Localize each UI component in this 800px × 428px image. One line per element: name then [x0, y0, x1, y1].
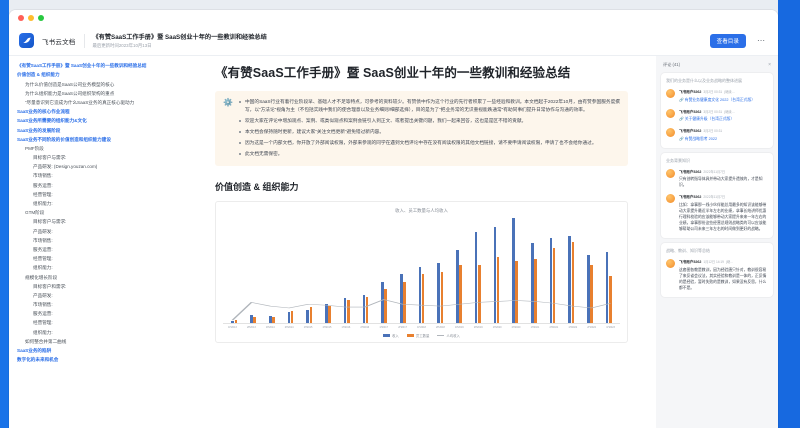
comment-header: 飞书用户52623月2日 00:31(继续… — [679, 109, 768, 115]
section-heading: 价值创造 & 组织能力 — [215, 180, 628, 193]
chart-bar-group — [225, 218, 244, 323]
toc-item[interactable]: 服务运营: — [15, 181, 183, 190]
comment-section-title: 战略、教训、知识等总结 — [666, 248, 768, 254]
comment-section: 业务背景知识飞书用户52622022年11月7日只有创转指导体具并带动大家提升遗… — [661, 153, 773, 238]
chart-bar-group — [356, 218, 375, 323]
comment-timestamp: 1月12日 14:19 — [703, 259, 724, 264]
chart-x-tick: 2H2019 — [469, 326, 488, 329]
comment-doc-link[interactable]: 🔗 关于健康升级（台湾正式版） — [679, 116, 768, 122]
legend-label: 收入 — [392, 333, 399, 338]
chart-x-tick: 2H2015 — [318, 326, 337, 329]
chart-x-tick: 1H2022 — [563, 326, 582, 329]
chart-x-tick: 1H2016 — [336, 326, 355, 329]
comment-item[interactable]: 飞书用户52623月2日 00:31(继续…🔗 关于健康升级（台湾正式版） — [666, 109, 768, 123]
chart-x-tick: 2H2016 — [355, 326, 374, 329]
chart-bar — [347, 300, 350, 323]
chart-x-tick: 2H2013 — [242, 326, 261, 329]
page-title: 《有赞SaaS工作手册》暨 SaaS创业十年的一些教训和经验总结 — [215, 64, 628, 82]
chart-x-tick: 2H2021 — [544, 326, 563, 329]
toc-item[interactable]: 产品研发: (Design.youzan.com) — [15, 163, 183, 172]
comment-body: 飞书用户52622022年11月7日比如：拿事那一线小伙伴能总用最多的知识该能够… — [679, 194, 768, 232]
share-button[interactable]: 查看目录 — [710, 34, 746, 48]
comment-item[interactable]: 飞书用户52622022年11月7日只有创转指导体具并带动大家提升遗效的，才是知… — [666, 169, 768, 189]
app-screen: 飞书云文档 《有赞SaaS工作手册》暨 SaaS创业十年的一些教训和经验总结 最… — [0, 0, 800, 428]
chart-x-axis: 1H20132H20131H20142H20141H20152H20151H20… — [223, 323, 620, 329]
minimize-window-button[interactable] — [28, 15, 34, 21]
comment-section-title: 我们的业务是什么以及业务战略的整体进展 — [666, 78, 768, 84]
comment-header: 飞书用户52622022年11月7日 — [679, 169, 768, 175]
legend-swatch — [437, 335, 444, 336]
chart-bar-group — [450, 218, 469, 323]
comment-section-title: 业务背景知识 — [666, 158, 768, 164]
feishu-logo-icon — [19, 33, 34, 48]
document-subtitle: 最后更新时间2023年10月13日 — [93, 43, 267, 49]
comment-timestamp: 2022年11月7日 — [703, 194, 725, 199]
toc-item[interactable]: “尽量意识到它造成为什么SaaS业务的真正核心驱动力 — [15, 99, 183, 108]
comment-author: 飞书用户5262 — [679, 195, 701, 200]
toc-item[interactable]: 规模化增长阶段 — [15, 273, 183, 282]
chart-bar-group — [543, 218, 562, 323]
close-window-button[interactable] — [18, 15, 24, 21]
toc-item[interactable]: 如何整合并第二曲线 — [15, 338, 183, 347]
comment-body: 飞书用户52623月2日 00:31(继续…🔗 关于健康升级（台湾正式版） — [679, 109, 768, 123]
chart-bar-group — [599, 218, 618, 323]
window-titlebar — [9, 10, 778, 26]
brand-name: 飞书云文档 — [42, 36, 76, 46]
comment-text: 只有创转指导体具并带动大家提升遗效的，才是知识。 — [679, 176, 768, 188]
app-body: 《有赞SaaS工作手册》暨 SaaS创业十年的一些教训和经验总结价值创造 & 组… — [9, 56, 778, 428]
right-rail — [778, 0, 800, 428]
toc-item[interactable]: 为什么组织能力是SaaS公司组织架构的重点 — [15, 90, 183, 99]
chart-bar-group — [262, 218, 281, 323]
comment-text: 这套图各教是教训，因为经验唐只针对，教训很容易了来反省会议法，其实经验和教训是一… — [679, 267, 768, 291]
comment-timestamp: 3月2日 00:31 — [703, 109, 722, 114]
avatar — [666, 109, 675, 118]
chart-bar — [534, 259, 537, 323]
comment-meta-extra: (继… — [726, 259, 733, 264]
toc-item[interactable]: PMF阶段 — [15, 145, 183, 154]
chart-bar — [553, 248, 556, 323]
comment-header: 飞书用户52623月2日 00:31 — [679, 128, 768, 134]
chart-bar — [253, 317, 256, 323]
toc-item[interactable]: 组织能力: — [15, 200, 183, 209]
toc-item[interactable]: SaaS业务的核心作业流程 — [15, 108, 183, 117]
chart-legend-item[interactable]: 收入 — [383, 333, 399, 338]
chart-bar-group — [244, 218, 263, 323]
comment-author: 飞书用户5262 — [679, 129, 701, 134]
table-of-contents[interactable]: 《有赞SaaS工作手册》暨 SaaS创业十年的一些教训和经验总结价值创造 & 组… — [9, 56, 187, 428]
chart-bar — [441, 272, 444, 323]
chart-bar — [235, 320, 238, 323]
chart-title: 收入、员工数量与人均收入 — [223, 208, 620, 214]
callout-bullet: 本文档会保持随时更新，建议大家“关注文档更新”避免错过新内容。 — [238, 128, 620, 136]
avatar — [666, 89, 675, 98]
comment-body: 飞书用户52622022年11月7日只有创转指导体具并带动大家提升遗效的，才是知… — [679, 169, 768, 189]
comment-sections: 我们的业务是什么以及业务战略的整体进展飞书用户52623月2日 00:31(继续… — [661, 73, 773, 297]
chart-bar — [328, 306, 331, 323]
callout-bullet: 欢迎大家在评论中增加观点、案例、或类似观点和案例会链引入到正文、或者提出关键问题… — [238, 117, 620, 125]
chart-bar — [572, 242, 575, 323]
chart-bar-group — [468, 218, 487, 323]
chart-legend-item[interactable]: 人均收入 — [437, 333, 460, 338]
chart-x-tick: 2H2020 — [507, 326, 526, 329]
chart-bar — [366, 297, 369, 323]
comment-item[interactable]: 飞书用户52622022年11月7日比如：拿事那一线小伙伴能总用最多的知识该能够… — [666, 194, 768, 232]
chart-legend-item[interactable]: 员工数量 — [407, 333, 430, 338]
chart-x-tick: 1H2014 — [261, 326, 280, 329]
gear-icon: ⚙️ — [223, 98, 233, 158]
toc-item[interactable]: 服务运营: — [15, 310, 183, 319]
chart-x-tick: 1H2013 — [223, 326, 242, 329]
comment-text: 比如：拿事那一线小伙伴能总用最多的知识该能够带动大家提升最近半年左右的业绩，拿事… — [679, 202, 768, 232]
legend-swatch — [383, 334, 390, 337]
callout-bullet: 中国的SaaS行业有着行业阶段早、基础人才不足等特点，可参考的资料较少。有赞债中… — [238, 98, 620, 113]
legend-swatch — [407, 334, 414, 337]
avatar — [666, 169, 675, 178]
comment-body: 飞书用户52621月12日 14:19(继…这套图各教是教训，因为经验唐只针对，… — [679, 259, 768, 291]
chart-bar — [515, 261, 518, 323]
comment-author: 飞书用户5262 — [679, 90, 701, 95]
chart-x-tick: 1H2017 — [374, 326, 393, 329]
toc-item[interactable]: 市场销售: — [15, 301, 183, 310]
chart-card: 收入、员工数量与人均收入 1H20132H20131H20142H20141H2… — [215, 201, 628, 343]
chart-x-tick: 2H2018 — [431, 326, 450, 329]
browser-window: 飞书云文档 《有赞SaaS工作手册》暨 SaaS创业十年的一些教训和经验总结 最… — [9, 10, 778, 428]
chart-x-tick: 1H2020 — [488, 326, 507, 329]
comment-header: 飞书用户52621月12日 14:19(继… — [679, 259, 768, 265]
chart-bar-group — [319, 218, 338, 323]
chart-bar-group — [431, 218, 450, 323]
chart-bar-group — [412, 218, 431, 323]
toc-item[interactable]: SaaS业务的发展阶段 — [15, 126, 183, 135]
chart-bar-group — [281, 218, 300, 323]
toc-item[interactable]: 产品研发: — [15, 227, 183, 236]
chart-x-tick: 2H2022 — [582, 326, 601, 329]
chart-bar-group — [506, 218, 525, 323]
chart-legend: 收入员工数量人均收入 — [223, 333, 620, 338]
toc-item[interactable]: 《有赞SaaS工作手册》暨 SaaS创业十年的一些教训和经验总结 — [15, 62, 183, 71]
chart-bar — [459, 265, 462, 323]
toc-item[interactable]: 为什么价值创造是SaaS公司业务模型的核心 — [15, 80, 183, 89]
toc-item[interactable]: SaaS业务所需要的组织能力&文化 — [15, 117, 183, 126]
toc-item[interactable]: 经营管理: — [15, 191, 183, 200]
comment-item[interactable]: 飞书用户52623月2日 00:31🔗 有赞战略思考 2022 — [666, 128, 768, 142]
toc-item[interactable]: GTM阶段 — [15, 209, 183, 218]
chart-bar-group — [300, 218, 319, 323]
legend-label: 人均收入 — [446, 333, 460, 338]
chart-x-tick: 1H2018 — [412, 326, 431, 329]
chart-bar-group — [375, 218, 394, 323]
comment-section: 我们的业务是什么以及业务战略的整体进展飞书用户52623月2日 00:31(继续… — [661, 73, 773, 148]
comments-count-label: 评论 (41) — [663, 62, 680, 68]
chart-x-tick: 2H2014 — [280, 326, 299, 329]
comment-section: 战略、教训、知识等总结飞书用户52621月12日 14:19(继…这套图各教是教… — [661, 243, 773, 297]
toc-item[interactable]: SaaS业务的陷阱 — [15, 347, 183, 356]
comment-timestamp: 2022年11月7日 — [703, 169, 725, 174]
close-icon[interactable]: × — [768, 62, 771, 68]
maximize-window-button[interactable] — [38, 15, 44, 21]
legend-label: 员工数量 — [416, 333, 430, 338]
chart-bar — [403, 282, 406, 323]
toc-item[interactable]: 组织能力: — [15, 328, 183, 337]
toc-item[interactable]: 经营管理: — [15, 255, 183, 264]
comment-timestamp: 3月2日 00:31 — [703, 89, 722, 94]
toc-item[interactable]: 经营管理: — [15, 319, 183, 328]
chart-bar — [291, 311, 294, 323]
chart-x-tick: 1H2023 — [601, 326, 620, 329]
toc-item[interactable]: 目标客户与需求: — [15, 218, 183, 227]
comment-author: 飞书用户5262 — [679, 110, 701, 115]
comment-meta-extra: (继续… — [724, 89, 735, 94]
comment-author: 飞书用户5262 — [679, 260, 701, 265]
comment-body: 飞书用户52623月2日 00:31(继续…🔗 有赞业务健康度文化 2022（台… — [679, 89, 768, 103]
callout-bullets: 中国的SaaS行业有着行业阶段早、基础人才不足等特点，可参考的资料较少。有赞债中… — [238, 98, 620, 158]
comment-doc-link[interactable]: 🔗 有赞战略思考 2022 — [679, 136, 768, 142]
comment-item[interactable]: 飞书用户52621月12日 14:19(继…这套图各教是教训，因为经验唐只针对，… — [666, 259, 768, 291]
chart-bar-group — [393, 218, 412, 323]
toc-item[interactable]: 市场销售: — [15, 237, 183, 246]
chart-bar — [497, 257, 500, 323]
chart-bar-group — [562, 218, 581, 323]
chart-bar — [422, 274, 425, 323]
toc-item[interactable]: 目标客户与需求: — [15, 154, 183, 163]
comments-panel[interactable]: 评论 (41) × 我们的业务是什么以及业务战略的整体进展飞书用户52623月2… — [656, 56, 778, 428]
toc-item[interactable]: 数字化的未来和机会 — [15, 356, 183, 365]
chart-bar-group — [487, 218, 506, 323]
avatar — [666, 128, 675, 137]
chart-bar — [310, 307, 313, 323]
chart-x-tick: 1H2015 — [299, 326, 318, 329]
toc-item[interactable]: 价值创造 & 组织能力 — [15, 71, 183, 80]
comment-header: 飞书用户52622022年11月7日 — [679, 194, 768, 200]
app-header: 飞书云文档 《有赞SaaS工作手册》暨 SaaS创业十年的一些教训和经验总结 最… — [9, 26, 778, 56]
chart-x-tick: 1H2021 — [526, 326, 545, 329]
avatar — [666, 194, 675, 203]
comment-body: 飞书用户52623月2日 00:31🔗 有赞战略思考 2022 — [679, 128, 768, 142]
toc-item[interactable]: 产品研发: — [15, 292, 183, 301]
left-rail — [0, 0, 9, 428]
chart-bar-group — [525, 218, 544, 323]
chart-plot-area — [223, 218, 620, 323]
comment-author: 飞书用户5262 — [679, 170, 701, 175]
comments-panel-header: 评论 (41) × — [661, 62, 773, 73]
chart-bar — [272, 317, 275, 323]
toc-item[interactable]: SaaS业务不同阶段的价值创造和组织能力建设 — [15, 136, 183, 145]
avatar — [666, 259, 675, 268]
chart-bar-group — [337, 218, 356, 323]
chart-x-tick: 2H2017 — [393, 326, 412, 329]
document-content: 《有赞SaaS工作手册》暨 SaaS创业十年的一些教训和经验总结 ⚙️ 中国的S… — [187, 56, 656, 428]
document-title: 《有赞SaaS工作手册》暨 SaaS创业十年的一些教训和经验总结 — [93, 32, 267, 41]
chart-bar — [590, 265, 593, 323]
chart-x-tick: 1H2019 — [450, 326, 469, 329]
header-divider — [84, 34, 85, 48]
comment-header: 飞书用户52623月2日 00:31(继续… — [679, 89, 768, 95]
callout-bullet: 因为这是一个内部文档，你开放了外部阅读权限，外部来参观的同学在遇到文档评论中存在… — [238, 139, 620, 147]
callout-box: ⚙️ 中国的SaaS行业有着行业阶段早、基础人才不足等特点，可参考的资料较少。有… — [215, 91, 628, 166]
comment-meta-extra: (继续… — [724, 109, 735, 114]
comment-doc-link[interactable]: 🔗 有赞业务健康度文化 2022（台湾正式版） — [679, 97, 768, 103]
chart-bar — [609, 276, 612, 323]
more-options-icon[interactable]: ⋯ — [754, 37, 768, 45]
chart-bar — [384, 289, 387, 323]
toc-item[interactable]: 组织能力: — [15, 264, 183, 273]
toc-item[interactable]: 市场销售: — [15, 172, 183, 181]
document-meta: 《有赞SaaS工作手册》暨 SaaS创业十年的一些教训和经验总结 最后更新时间2… — [93, 32, 267, 49]
callout-bullet: 此文档无需保密。 — [238, 150, 620, 158]
toc-item[interactable]: 服务运营: — [15, 246, 183, 255]
chart-bar — [478, 265, 481, 323]
comment-timestamp: 3月2日 00:31 — [703, 128, 722, 133]
comment-item[interactable]: 飞书用户52623月2日 00:31(继续…🔗 有赞业务健康度文化 2022（台… — [666, 89, 768, 103]
chart-bar-group — [581, 218, 600, 323]
toc-item[interactable]: 目标客户和需求: — [15, 283, 183, 292]
